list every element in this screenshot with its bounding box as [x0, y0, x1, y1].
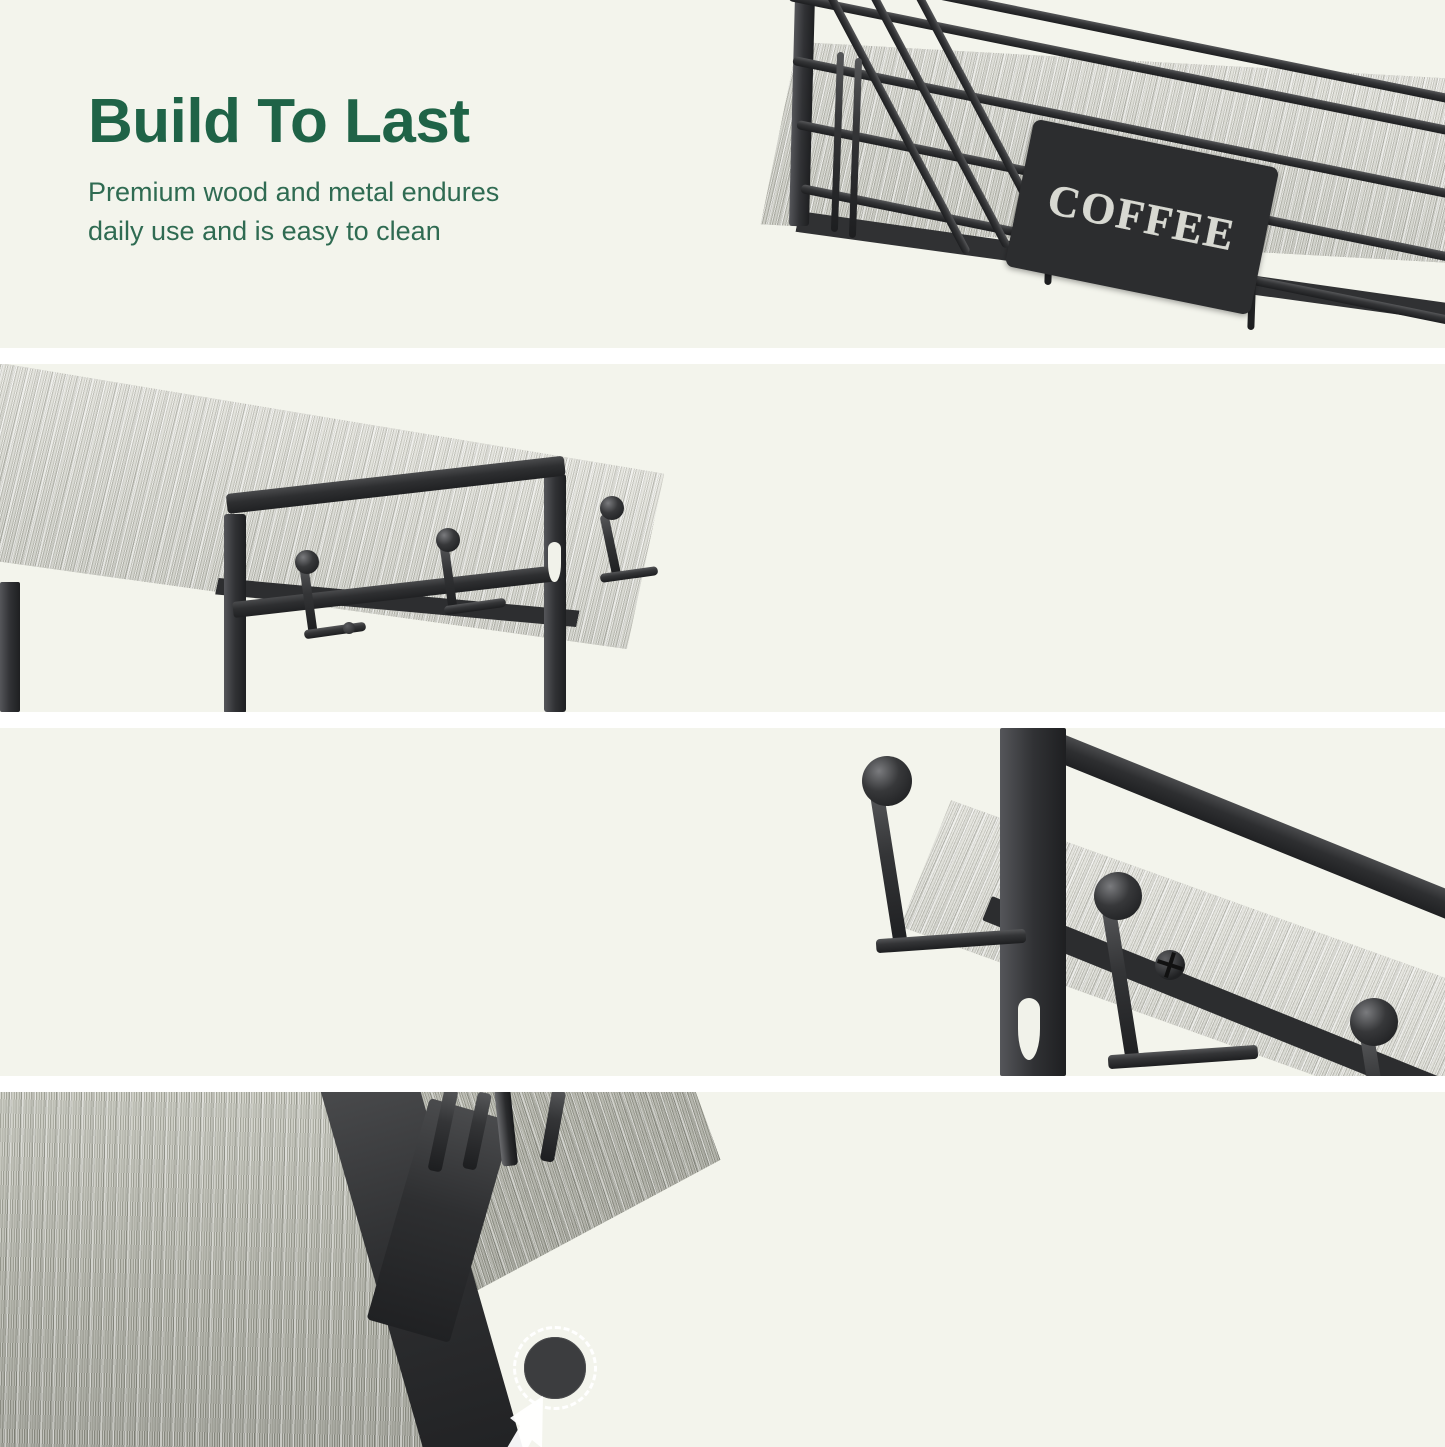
- hooks-screw-cross-2: [1157, 959, 1183, 971]
- handle-mug-hook-2: [420, 522, 550, 632]
- panel-anti-skid-pads: Anti-Skid Pads Ensuring stability and pr…: [0, 1092, 1445, 1447]
- mug-hook-a: [850, 748, 1070, 1008]
- heading-build-to-last: Build To Last: [88, 90, 499, 153]
- sign-mount-wire-left: [1044, 130, 1056, 285]
- sign-mount-wire-right: [1247, 175, 1259, 330]
- product-feature-infographic: COFFEE Build To Last Premium wood and me…: [0, 0, 1445, 1447]
- image-anti-skid-pads: [0, 1092, 700, 1447]
- pads-rack-strut-2: [462, 1092, 492, 1171]
- handle-mug-hook-1: [280, 542, 410, 652]
- mug-hook-c: [1330, 998, 1445, 1076]
- handle-upright-right: [544, 474, 566, 712]
- rack-wire-strut-1: [831, 52, 844, 232]
- pads-frame-edge: [318, 1092, 529, 1447]
- pads-rack-strut-3: [540, 1092, 566, 1163]
- rack-wire-rail-1: [788, 0, 1445, 108]
- hooks-top-bar: [1038, 728, 1445, 934]
- panel-robust-mug-hooks: Robust Mug Hooks 12 hooks ensure easy ac…: [0, 728, 1445, 1076]
- shelf-under-edge: [778, 170, 1445, 348]
- coffee-sign-plate: COFFEE: [1005, 119, 1280, 316]
- handle-keyhole-slot: [548, 542, 561, 582]
- pads-rack-tube: [494, 1092, 518, 1167]
- copy-build-to-last: Build To Last Premium wood and metal end…: [88, 90, 499, 252]
- image-portable-handle: [0, 364, 700, 712]
- panel-portable-handle: Portable Handle User-friendly design enh…: [0, 364, 1445, 712]
- rack-wire-rail-4: [796, 120, 1445, 268]
- coffee-sign-label: COFFEE: [1044, 173, 1241, 261]
- rack-wire-diagonal-2: [849, 0, 1011, 249]
- pads-shelf-surface: [0, 1092, 755, 1447]
- hooks-keyhole-slot: [1018, 998, 1040, 1060]
- rack-wire-rail-3: [792, 56, 1445, 204]
- handle-top-bar: [226, 456, 566, 514]
- anti-skid-pointer-arrow: [448, 1388, 568, 1447]
- anti-skid-pad-visible: [524, 1337, 586, 1399]
- pads-rack-strut-1: [427, 1092, 458, 1173]
- anti-skid-pad-highlight-ring: [513, 1326, 597, 1410]
- handle-mug-hook-3: [578, 492, 708, 602]
- handle-upright-left: [224, 514, 246, 712]
- rack-wire-diagonal-1: [809, 0, 971, 255]
- wood-shelf-board: [758, 0, 1445, 348]
- subtitle-line-1: Premium wood and metal endures: [88, 173, 499, 212]
- handle-lower-rail: [232, 565, 562, 618]
- mug-hook-b: [1080, 868, 1300, 1076]
- pads-shelf-surface-fill: [0, 1092, 520, 1447]
- anti-skid-pad: [524, 1337, 586, 1399]
- subtitle-line-2: daily use and is easy to clean: [88, 212, 499, 251]
- handle-screw-icon: [343, 622, 355, 634]
- rack-wire-strut-2: [849, 58, 862, 238]
- pads-frame-corner: [367, 1098, 513, 1343]
- subtitle-build-to-last: Premium wood and metal endures daily use…: [88, 173, 499, 251]
- image-build-to-last: COFFEE: [770, 0, 1445, 348]
- panel-build-to-last: COFFEE Build To Last Premium wood and me…: [0, 0, 1445, 348]
- handle-shelf-board: [0, 364, 664, 712]
- hooks-screw-cross: [1164, 952, 1176, 978]
- hooks-shelf-board: [810, 778, 1445, 1076]
- hooks-mounting-bracket: [1000, 728, 1066, 1076]
- rack-wire-diagonal-3: [891, 0, 1053, 243]
- rack-left-post: [789, 0, 815, 226]
- rack-wire-rail-5: [800, 184, 1445, 332]
- hooks-front-rail: [982, 896, 1445, 1076]
- hooks-screw-icon: [1155, 950, 1185, 980]
- handle-left-leg: [0, 582, 20, 712]
- rack-wire-rail-2: [788, 0, 1445, 140]
- handle-shelf-edge: [205, 524, 582, 712]
- image-robust-mug-hooks: [760, 728, 1445, 1076]
